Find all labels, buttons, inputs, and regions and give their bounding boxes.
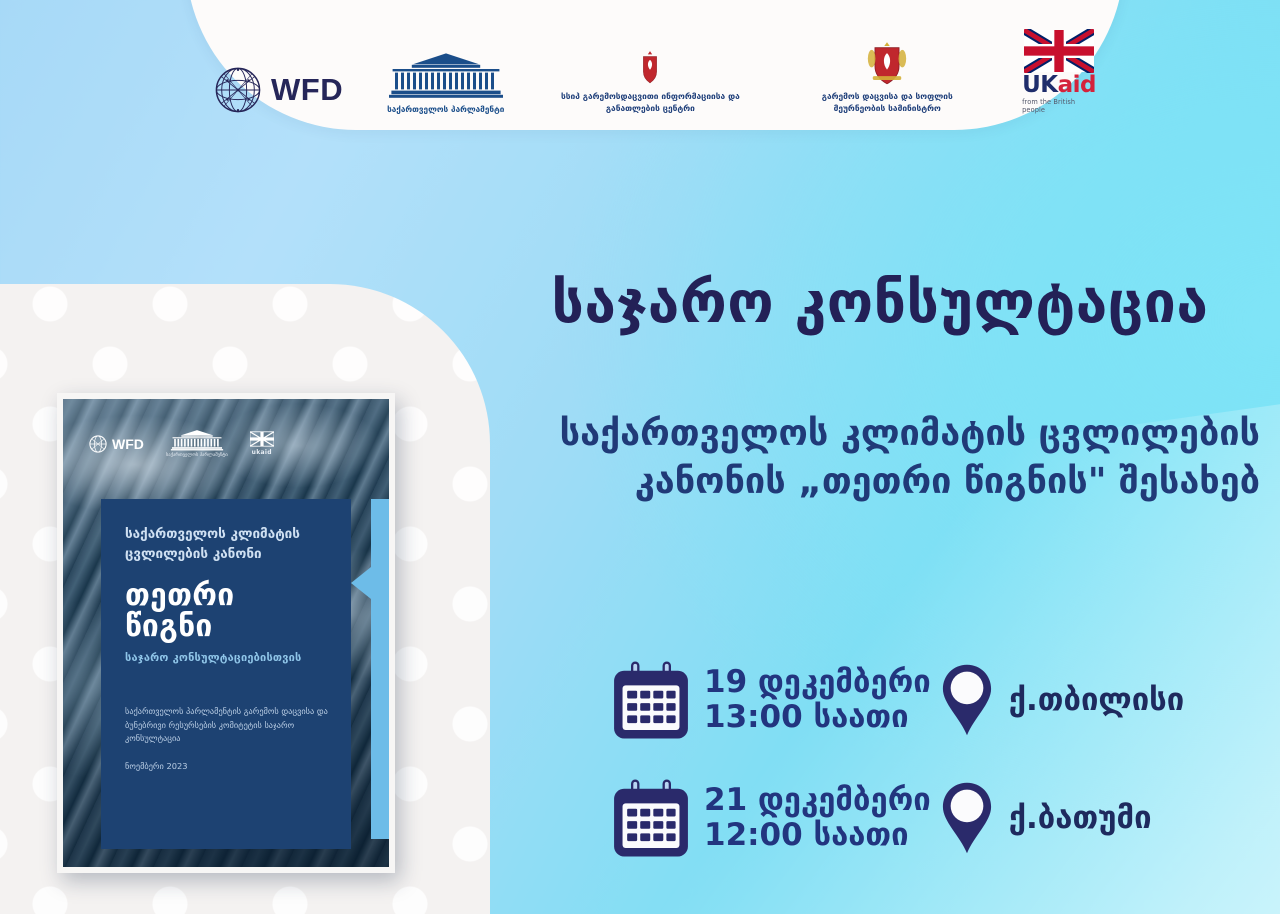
event-date: 21 დეკემბერი — [704, 783, 931, 818]
union-jack-flag-icon — [1024, 29, 1094, 73]
book-kicker: საქართველოს კლიმატის ცვლილების კანონი — [125, 525, 329, 564]
book-cover: WFD საქართველოს პარლამენტი — [57, 393, 395, 873]
book-wfd-logo: WFD — [89, 435, 144, 453]
coat-of-arms-small-icon — [639, 50, 661, 84]
event-list: 19 დეკემბერი 13:00 საათი ქ.თბილისი — [612, 660, 1252, 896]
book-ukaid-logo: ukaid — [250, 431, 274, 456]
georgia-coat-of-arms-icon — [865, 40, 909, 86]
book-cover-logo-row: WFD საქართველოს პარლამენტი — [89, 429, 369, 458]
event-datetime: 19 დეკემბერი 13:00 საათი — [704, 665, 931, 734]
csb-center-logo: სსიპ გარემოსდაცვითი ინფორმაციისა და განა… — [548, 50, 752, 114]
location-pin-icon — [941, 781, 993, 855]
event-time: 12:00 საათი — [704, 818, 931, 853]
book-subtitle: საჯარო კონსულტაციებისთვის — [125, 651, 329, 665]
book-text-panel: საქართველოს კლიმატის ცვლილების კანონი თე… — [101, 499, 351, 849]
parliament-of-georgia-logo: საქართველოს პარლამენტი — [387, 51, 504, 114]
event-location: ქ.ბათუმი — [1009, 800, 1152, 836]
sponsor-logo-row: WFD საქ — [186, 29, 1124, 114]
wfd-logo: WFD — [214, 66, 343, 114]
book-title: თეთრი წიგნი — [125, 581, 329, 642]
calendar-icon — [612, 778, 690, 858]
event-datetime: 21 დეკემბერი 12:00 საათი — [704, 783, 931, 852]
ministry-logo: გარემოს დაცვისა და სოფლის მეურნეობის სამ… — [796, 40, 978, 114]
book-accent-bar — [371, 499, 395, 839]
book-ukaid-caption: ukaid — [252, 449, 272, 456]
book-parliament-logo: საქართველოს პარლამენტი — [166, 429, 228, 458]
event-row: 21 დეკემბერი 12:00 საათი ქ.ბათუმი — [612, 778, 1252, 858]
csb-center-logo-caption: სსიპ გარემოსდაცვითი ინფორმაციისა და განა… — [548, 90, 752, 114]
book-parliament-caption: საქართველოს პარლამენტი — [166, 453, 228, 458]
wfd-logo-text: WFD — [271, 72, 343, 108]
ministry-logo-caption: გარემოს დაცვისა და სოფლის მეურნეობის სამ… — [796, 90, 978, 114]
wfd-globe-icon — [89, 435, 107, 453]
book-body-text: საქართველოს პარლამენტის გარემოს დაცვისა … — [125, 705, 329, 745]
ukaid-uk-text: UK — [1022, 72, 1058, 98]
event-row: 19 დეკემბერი 13:00 საათი ქ.თბილისი — [612, 660, 1252, 740]
event-time: 13:00 საათი — [704, 700, 931, 735]
parliament-logo-caption: საქართველოს პარლამენტი — [387, 104, 504, 114]
book-date: ნოემბერი 2023 — [125, 761, 329, 771]
ukaid-tagline: from the British people — [1022, 98, 1096, 114]
event-location: ქ.თბილისი — [1009, 682, 1185, 718]
page-subtitle: საქართველოს კლიმატის ცვლილების კანონის „… — [470, 410, 1260, 505]
parliament-building-icon — [389, 51, 503, 99]
calendar-icon — [612, 660, 690, 740]
page-title: საჯარო კონსულტაცია — [500, 272, 1260, 335]
sponsor-header-band: WFD საქ — [186, 0, 1124, 130]
book-accent-notch — [351, 567, 371, 599]
book-wfd-text: WFD — [112, 436, 144, 452]
ukaid-logo: UKaid from the British people — [1022, 29, 1096, 114]
event-date: 19 დეკემბერი — [704, 665, 931, 700]
ukaid-aid-text: aid — [1058, 72, 1096, 98]
location-pin-icon — [941, 663, 993, 737]
union-jack-flag-icon — [250, 431, 274, 447]
parliament-building-icon — [169, 429, 225, 451]
ukaid-wordmark: UKaid — [1022, 74, 1096, 97]
wfd-globe-icon — [214, 66, 262, 114]
